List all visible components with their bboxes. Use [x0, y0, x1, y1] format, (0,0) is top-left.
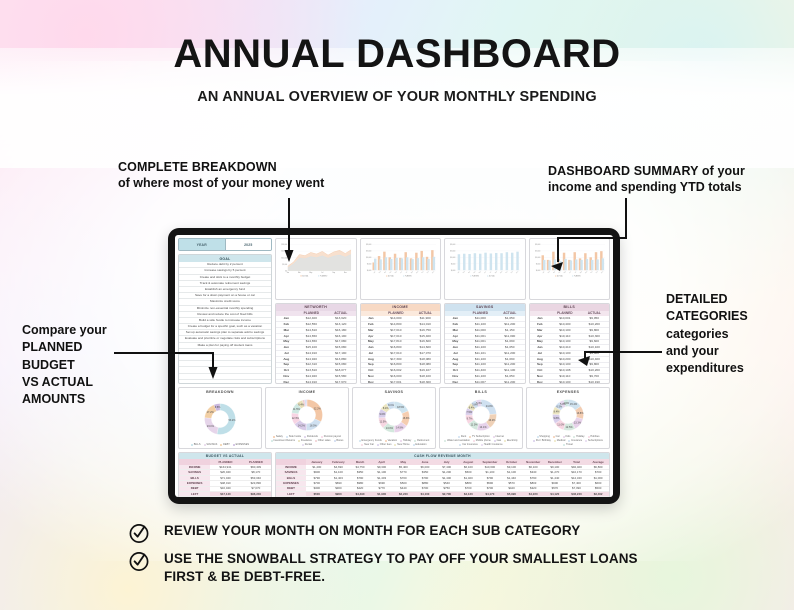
cf-cell-value: $440	[393, 487, 415, 491]
cell-month: Sep	[361, 363, 382, 368]
donut-legend-item: SAVINGS	[204, 443, 218, 446]
callout-summary-line2: income and spending YTD totals	[548, 179, 745, 195]
donut-legend-item: Retirement	[414, 439, 429, 442]
cell-month: Jan	[361, 316, 382, 321]
cell-month: Dec	[445, 380, 466, 384]
svg-text:$20,000: $20,000	[282, 244, 288, 246]
cf-cell-value: $4,120	[544, 492, 566, 496]
cell-actual: $15,080	[326, 363, 355, 368]
cell-actual: $13,120	[326, 322, 355, 327]
cell-month: Jun	[530, 345, 551, 350]
svg-text:Aug: Aug	[578, 270, 582, 274]
cell-planned: $10,200	[550, 357, 579, 362]
svg-text:Oct: Oct	[420, 270, 424, 274]
cf-cell-value: $7,400	[436, 465, 458, 469]
bar-chart-income: $20,000$15,000$10,000$5,000$0,000JanFebM…	[364, 243, 438, 277]
donut-legend-item: BILLS	[191, 443, 201, 446]
svg-text:23.1%: 23.1%	[207, 425, 215, 428]
cell-planned: $11,100	[466, 357, 495, 362]
bva-cell-label: LEFT	[179, 492, 210, 496]
cell-month: Feb	[276, 322, 297, 327]
svg-text:9.6%: 9.6%	[379, 413, 385, 416]
cf-cell-value: $790	[522, 476, 544, 480]
cell-month: Dec	[276, 380, 297, 384]
cf-cell-value: $2,240	[393, 492, 415, 496]
donut-legend: ShoppingCarKidsHolidayHobbiesPet / Birth…	[529, 435, 607, 447]
svg-text:15.4%: 15.4%	[570, 403, 578, 406]
spreadsheet-dashboard: YEAR 2025 GOAL Reduce debt by 2 percentI…	[178, 238, 610, 494]
cell-actual: $17,070	[411, 351, 440, 356]
donut-legend-item: Internet	[493, 435, 504, 438]
cell-month: Jan	[276, 316, 297, 321]
page-title: ANNUAL DASHBOARD	[0, 32, 794, 77]
cell-actual: $11,200	[495, 380, 524, 384]
cf-cell-value: $4,750	[349, 465, 371, 469]
donut-legend-item: Medical	[554, 439, 565, 442]
table-row[interactable]: Dec$14,910$17,670	[276, 380, 356, 384]
cf-cell-value: $6,000	[414, 465, 436, 469]
bva-row[interactable]: LEFT$17,140$96,240	[179, 492, 271, 497]
svg-text:Mar: Mar	[552, 270, 556, 274]
cf-cell-value: $1,403	[328, 476, 350, 480]
cf-cell-value: $570	[544, 487, 566, 491]
donut-legend-item: Side hustle	[286, 435, 301, 438]
donut-legend: SalarySide hustleDividendsPension payout…	[268, 435, 346, 447]
cell-actual: $11,900	[411, 316, 440, 321]
cf-cell-value: $4,120	[457, 492, 479, 496]
svg-text:$0,000: $0,000	[451, 270, 456, 272]
table-row[interactable]: Dec$17,001$18,300	[361, 380, 441, 384]
cell-actual: $9,050	[580, 316, 609, 321]
cf-cell-value: $4,690	[328, 465, 350, 469]
year-toggle[interactable]: YEAR 2025	[178, 238, 272, 251]
cell-month: Mar	[361, 328, 382, 333]
svg-text:Jul: Jul	[574, 271, 577, 274]
callout-planned-vs-actual: Compare your PLANNED BUDGET VS ACTUAL AM…	[22, 322, 107, 408]
svg-text:Feb: Feb	[378, 271, 381, 274]
svg-text:11.0%: 11.0%	[471, 424, 479, 427]
donut-legend-item: EXPENSES	[233, 443, 249, 446]
svg-text:$20,000: $20,000	[535, 244, 540, 246]
cell-planned: $14,650	[297, 334, 326, 339]
page-subtitle: AN ANNUAL OVERVIEW OF YOUR MONTHLY SPEND…	[0, 89, 794, 105]
cell-planned: $16,000	[381, 374, 410, 379]
cell-actual: $9,800	[580, 363, 609, 368]
donut-chart: 24.0%16.2%14.1%11.0%9.7%7.5%6.4%5.8%5.3%	[461, 395, 501, 435]
cf-cell-value: $540	[436, 481, 458, 485]
table-bills: BILLSPLANNEDACTUALJan$10,001$9,050Feb$10…	[529, 303, 611, 384]
cf-cell-value: $9,100	[501, 465, 523, 469]
cell-planned: $10,100	[550, 363, 579, 368]
cell-month: Nov	[361, 374, 382, 379]
cell-actual: $15,580	[326, 374, 355, 379]
svg-text:Feb: Feb	[547, 271, 550, 274]
cell-actual: $18,077	[326, 368, 355, 373]
cell-planned: $17,300	[381, 357, 410, 362]
goals-panel-header: GOAL	[179, 255, 271, 262]
cf-cell-value: $690	[328, 481, 350, 485]
cf-cell-value: $10,170	[566, 470, 588, 474]
svg-text:17.2%: 17.2%	[207, 411, 215, 414]
donut-legend-item: New Home	[394, 443, 409, 446]
donut-chart: 15.4%13.8%13.1%12.5%11.0%9.8%8.4%6.5%5.0…	[548, 395, 588, 435]
svg-text:16.3%: 16.3%	[402, 417, 410, 420]
svg-text:PLANNED: PLANNED	[404, 275, 411, 277]
cf-cell-value: $7,090	[566, 487, 588, 491]
goals-column: YEAR 2025 GOAL Reduce debt by 2 percentI…	[178, 238, 272, 384]
svg-text:$10,000: $10,000	[282, 257, 288, 259]
svg-text:24.0%: 24.0%	[486, 405, 494, 408]
callout-detailed-line1: DETAILED	[666, 291, 748, 308]
svg-text:7.5%: 7.5%	[466, 411, 472, 414]
dashboard-row-donuts: BREAKDOWN53.2%23.1%17.2%6.5%BILLSSAVINGS…	[178, 387, 610, 449]
svg-text:6.4%: 6.4%	[298, 403, 304, 406]
svg-text:14.9%: 14.9%	[396, 427, 404, 430]
cell-planned: $12,310	[297, 363, 326, 368]
cell-planned: $10,100	[550, 380, 579, 384]
donut-legend-item: Kids	[563, 435, 571, 438]
bva-cell-actual: $96,240	[241, 492, 271, 496]
cell-planned: $11,100	[466, 374, 495, 379]
donut-legend-item: Education	[413, 443, 427, 446]
cell-actual: $1,090	[495, 357, 524, 362]
cell-actual: $17,080	[326, 340, 355, 345]
cell-planned: $16,002	[381, 368, 410, 373]
cell-actual: $10,190	[580, 380, 609, 384]
svg-text:Sep: Sep	[415, 271, 418, 274]
donut-legend-item: Insurance	[568, 439, 582, 442]
cell-actual: $11,200	[495, 351, 524, 356]
svg-text:14.1%: 14.1%	[480, 426, 488, 429]
cell-month: Oct	[361, 368, 382, 373]
cell-month: Jul	[530, 351, 551, 356]
cell-actual: $9,900	[580, 351, 609, 356]
year-toggle-inactive[interactable]: 2025	[225, 239, 272, 250]
cell-month: Nov	[276, 374, 297, 379]
check-circle-icon	[128, 522, 150, 544]
donut-legend-item: Vacation	[385, 439, 397, 442]
cf-cell-value: $600	[587, 481, 609, 485]
bva-cell-label: DEBT	[179, 487, 210, 491]
cf-cell-value: $420	[501, 487, 523, 491]
cell-planned: $10,100	[550, 351, 579, 356]
donut-chart-wrap: 15.4%13.8%13.1%12.5%11.0%9.8%8.4%6.5%5.0…	[529, 395, 607, 435]
cf-cell-label: LEFT	[276, 492, 306, 496]
cell-planned: $16,800	[381, 363, 410, 368]
svg-text:13.1%: 13.1%	[574, 421, 582, 424]
cell-planned: $11,000	[466, 316, 495, 321]
cell-month: Jan	[530, 316, 551, 321]
svg-text:14.2%: 14.2%	[298, 425, 306, 428]
cf-cell-value: $900	[328, 492, 350, 496]
cf-cell-value: $3,402	[587, 492, 609, 496]
donut-legend-item: Other fees	[377, 443, 391, 446]
donut-legend-item: Car	[553, 435, 560, 438]
svg-text:9.8%: 9.8%	[554, 417, 560, 420]
callout-summary-line1: DASHBOARD SUMMARY of your	[548, 163, 745, 179]
cf-cell-value: $790	[414, 476, 436, 480]
cell-planned: $12,400	[297, 316, 326, 321]
cell-actual: $1,150	[495, 328, 524, 333]
goals-panel-row-empty[interactable]	[179, 380, 271, 384]
cf-cell-value: $500	[393, 481, 415, 485]
cf-cell-value: $4,490	[349, 492, 371, 496]
card-income: $20,000$15,000$10,000$5,000$0,000JanFebM…	[360, 238, 442, 384]
table-title: NETWORTH	[276, 304, 356, 311]
svg-text:$10,000: $10,000	[535, 257, 540, 259]
cell-month: Jun	[361, 345, 382, 350]
table-income: INCOMEPLANNEDACTUALJan$14,000$11,900Feb$…	[360, 303, 442, 384]
svg-text:$15,000: $15,000	[366, 251, 371, 253]
cf-cell-value: $4,100	[414, 492, 436, 496]
cf-cell-label: INCOME	[276, 465, 306, 469]
table-row[interactable]: Dec$10,100$10,190	[530, 380, 610, 384]
svg-text:9.7%: 9.7%	[467, 418, 473, 421]
cell-month: Mar	[445, 328, 466, 333]
callout-detailed-line2: CATEGORIES	[666, 308, 748, 325]
cf-cell-value: $350	[349, 470, 371, 474]
cell-month: May	[276, 340, 297, 345]
cell-planned: $17,010	[381, 328, 410, 333]
svg-text:$15,000: $15,000	[450, 251, 455, 253]
svg-text:6.5%: 6.5%	[215, 406, 221, 409]
cell-month: Feb	[445, 322, 466, 327]
cf-cell-value: $570	[501, 481, 523, 485]
bva-cell-actual: $8,170	[241, 470, 271, 474]
donut-legend-item: Holiday	[573, 435, 584, 438]
cf-cell-value: $300	[328, 487, 350, 491]
cf-cell-value: $900	[306, 470, 328, 474]
callout-detailed-line4: and your	[666, 343, 748, 360]
donut-card-savings: SAVINGS18.5%16.3%14.9%13.0%11.5%9.6%8.1%…	[352, 387, 436, 449]
table-networth: NETWORTHPLANNEDACTUALJan$12,400$13,620Fe…	[275, 303, 357, 384]
cell-planned: $13,810	[297, 368, 326, 373]
svg-text:Jun: Jun	[568, 271, 571, 274]
cell-planned: $12,550	[297, 322, 326, 327]
svg-text:$15,000: $15,000	[282, 251, 288, 253]
svg-text:Sep: Sep	[500, 271, 503, 274]
svg-text:11.5%: 11.5%	[380, 421, 388, 424]
cell-planned: $17,001	[381, 380, 410, 384]
donut-legend-item: Investment Returns	[271, 439, 295, 442]
cell-planned: $14,800	[381, 322, 410, 327]
svg-text:12.3%: 12.3%	[292, 417, 300, 420]
cf-cell-value: $500	[306, 492, 328, 496]
svg-text:ACTUAL: ACTUAL	[388, 275, 394, 277]
donut-legend-item: Subscriptions	[585, 439, 603, 442]
svg-text:ACTUAL: ACTUAL	[302, 275, 308, 277]
cell-actual: $18,080	[411, 357, 440, 362]
cf-cell-value: $880	[457, 481, 479, 485]
cf-cell-value: $980	[349, 481, 371, 485]
svg-text:$5,000: $5,000	[451, 263, 456, 265]
cell-planned: $11,100	[466, 345, 495, 350]
svg-text:$10,000: $10,000	[450, 257, 455, 259]
cell-month: Oct	[445, 368, 466, 373]
cell-planned: $14,650	[297, 340, 326, 345]
cell-actual: $9,600	[580, 340, 609, 345]
callout-complete-breakdown: COMPLETE BREAKDOWN of where most of your…	[118, 159, 324, 191]
svg-text:53.2%: 53.2%	[228, 419, 236, 422]
cell-planned: $10,100	[550, 340, 579, 345]
donut-chart: 53.2%23.1%17.2%6.5%	[200, 399, 240, 439]
cf-cell-value: $790	[479, 476, 501, 480]
cell-actual: $11,100	[495, 368, 524, 373]
cf-cell-value: $5,990	[501, 492, 523, 496]
bva-cell-label: EXPENSES	[179, 481, 210, 485]
donut-legend-item: Shopping	[537, 435, 550, 438]
donut-title: SAVINGS	[355, 390, 433, 394]
cf-cell-value: $700	[457, 487, 479, 491]
donut-legend-item: Emergency Funds	[359, 439, 382, 442]
cf-cell-value: $6,100	[522, 465, 544, 469]
svg-text:$10,000: $10,000	[366, 257, 371, 259]
cell-planned: $10,110	[550, 334, 579, 339]
cf-cell-value: $7,400	[566, 481, 588, 485]
cf-cell-value: $750	[436, 487, 458, 491]
cf-cell-value: $420	[349, 487, 371, 491]
cell-actual: $15,080	[326, 345, 355, 350]
donut-chart-wrap: 53.2%23.1%17.2%6.5%	[181, 395, 259, 443]
donut-title: INCOME	[268, 390, 346, 394]
svg-text:11.0%: 11.0%	[557, 424, 565, 427]
donut-title: BREAKDOWN	[181, 390, 259, 394]
svg-text:$20,000: $20,000	[450, 244, 455, 246]
donut-card-expenses: EXPENSES15.4%13.8%13.1%12.5%11.0%9.8%8.4…	[526, 387, 610, 449]
svg-text:$15,000: $15,000	[535, 251, 540, 253]
cell-actual: $10,200	[580, 368, 609, 373]
svg-text:Mar: Mar	[383, 270, 387, 274]
year-toggle-active[interactable]: YEAR	[179, 239, 225, 250]
svg-text:May: May	[309, 272, 312, 274]
donut-legend-item: Gas	[494, 439, 501, 442]
chart-income: $20,000$15,000$10,000$5,000$0,000JanFebM…	[360, 238, 442, 300]
svg-text:$20,000: $20,000	[366, 244, 371, 246]
cell-planned: $14,910	[297, 380, 326, 384]
cf-cell-value: $9,300	[371, 465, 393, 469]
checklist-item-2-text: USE THE SNOWBALL STRATEGY TO PAY OFF YOU…	[164, 550, 669, 586]
cf-cell-value: $1,400	[436, 476, 458, 480]
cf-cell-value: $10,600	[479, 465, 501, 469]
donut-legend-item: Dividends	[304, 435, 318, 438]
table-title: INCOME	[361, 304, 441, 311]
cell-planned: $10,110	[550, 374, 579, 379]
svg-text:Apr: Apr	[557, 270, 561, 274]
cell-planned: $15,100	[297, 345, 326, 350]
cell-actual: $16,190	[326, 334, 355, 339]
cell-planned: $14,920	[297, 357, 326, 362]
svg-text:Jul: Jul	[321, 272, 324, 274]
svg-text:Jan: Jan	[457, 271, 460, 274]
svg-text:$0,000: $0,000	[535, 270, 540, 272]
svg-text:32.2%: 32.2%	[314, 408, 322, 411]
cf-row[interactable]: LEFT$500$900$4,490$1,900$2,240$4,100$2,7…	[276, 492, 609, 497]
cell-month: Jul	[276, 351, 297, 356]
svg-text:Jan: Jan	[373, 271, 376, 274]
cell-actual: $16,600	[411, 340, 440, 345]
chart-bills: $20,000$15,000$10,000$5,000$0,000JanFebM…	[529, 238, 611, 300]
cell-planned: $11,001	[466, 334, 495, 339]
donut-legend-item: Holiday	[400, 439, 411, 442]
donut-legend-item: New Car	[361, 443, 374, 446]
cell-month: Jul	[361, 351, 382, 356]
svg-text:Jun: Jun	[399, 271, 402, 274]
bva-cell-planned: $26,040	[210, 470, 240, 474]
cf-cell-value: $1,400	[306, 465, 328, 469]
cf-cell-value: $500	[457, 470, 479, 474]
bva-cell-label: BILLS	[179, 476, 210, 480]
cf-cell-value: $1,270	[544, 470, 566, 474]
svg-text:PLANNED: PLANNED	[573, 275, 580, 277]
cell-planned: $17,010	[381, 351, 410, 356]
cf-cell-value: $803	[522, 481, 544, 485]
callout-planned-line3: BUDGET	[22, 357, 107, 374]
svg-text:Jun: Jun	[484, 271, 487, 274]
cell-month: Dec	[530, 380, 551, 384]
cell-month: Sep	[276, 363, 297, 368]
checklist-item-2: USE THE SNOWBALL STRATEGY TO PAY OFF YOU…	[128, 550, 669, 586]
cf-cell-label: DEBT	[276, 487, 306, 491]
svg-text:Sep: Sep	[332, 272, 335, 274]
bva-cell-planned: $48,010	[210, 481, 240, 485]
table-row[interactable]: Dec$11,007$11,200	[445, 380, 525, 384]
cell-month: Jul	[445, 351, 466, 356]
svg-text:May: May	[394, 271, 398, 274]
table-cash-flow: CASH FLOW REVENUE MONTH JanuaryFebruaryM…	[275, 452, 610, 497]
svg-text:Oct: Oct	[589, 270, 593, 274]
cell-actual: $1,050	[495, 374, 524, 379]
svg-text:12.5%: 12.5%	[566, 426, 574, 429]
cf-cell-value: $2,700	[436, 492, 458, 496]
cf-cell-value: $700	[306, 481, 328, 485]
cell-actual: $9,700	[580, 374, 609, 379]
cell-actual: $17,190	[326, 351, 355, 356]
cell-actual: $18,100	[411, 374, 440, 379]
svg-text:Dec: Dec	[600, 271, 603, 274]
cell-actual: $1,050	[495, 345, 524, 350]
cell-planned: $16,800	[381, 345, 410, 350]
chart-networth: $20,000$15,000$10,000$5,000$0JanMarMayJu…	[275, 238, 357, 300]
svg-text:Nov: Nov	[426, 271, 429, 274]
svg-text:Jul: Jul	[489, 271, 492, 274]
cell-planned: $14,920	[297, 374, 326, 379]
donut-title: BILLS	[442, 390, 520, 394]
laptop-screen: YEAR 2025 GOAL Reduce debt by 2 percentI…	[175, 235, 613, 497]
svg-text:16.2%: 16.2%	[488, 419, 496, 422]
cf-cell-value: $600	[544, 481, 566, 485]
cell-month: May	[361, 340, 382, 345]
cell-actual: $11,200	[495, 363, 524, 368]
svg-text:13.8%: 13.8%	[576, 412, 584, 415]
cf-cell-value: $1,200	[436, 470, 458, 474]
cell-month: May	[530, 340, 551, 345]
cf-cell-value: $1,100	[501, 470, 523, 474]
donut-legend-item: Rental	[302, 443, 312, 446]
cf-cell-value: $790	[349, 476, 371, 480]
cf-cell-value: $770	[393, 470, 415, 474]
cell-actual: $11,200	[495, 322, 524, 327]
cf-cell-value: $46,240	[566, 492, 588, 496]
cf-cell-value: $1,440	[501, 476, 523, 480]
cf-cell-value: $690	[371, 481, 393, 485]
cell-month: Aug	[361, 357, 382, 362]
table-budget-vs-actual: BUDGET VS ACTUAL PLANNEDPLANNEDINCOME$16…	[178, 452, 272, 497]
svg-text:18.5%: 18.5%	[310, 424, 318, 427]
svg-text:18.5%: 18.5%	[397, 406, 405, 409]
donut-card-income: INCOME32.2%18.5%14.2%12.3%11.5%6.4%Salar…	[265, 387, 349, 449]
cell-actual: $13,620	[326, 316, 355, 321]
svg-text:Aug: Aug	[409, 270, 413, 274]
